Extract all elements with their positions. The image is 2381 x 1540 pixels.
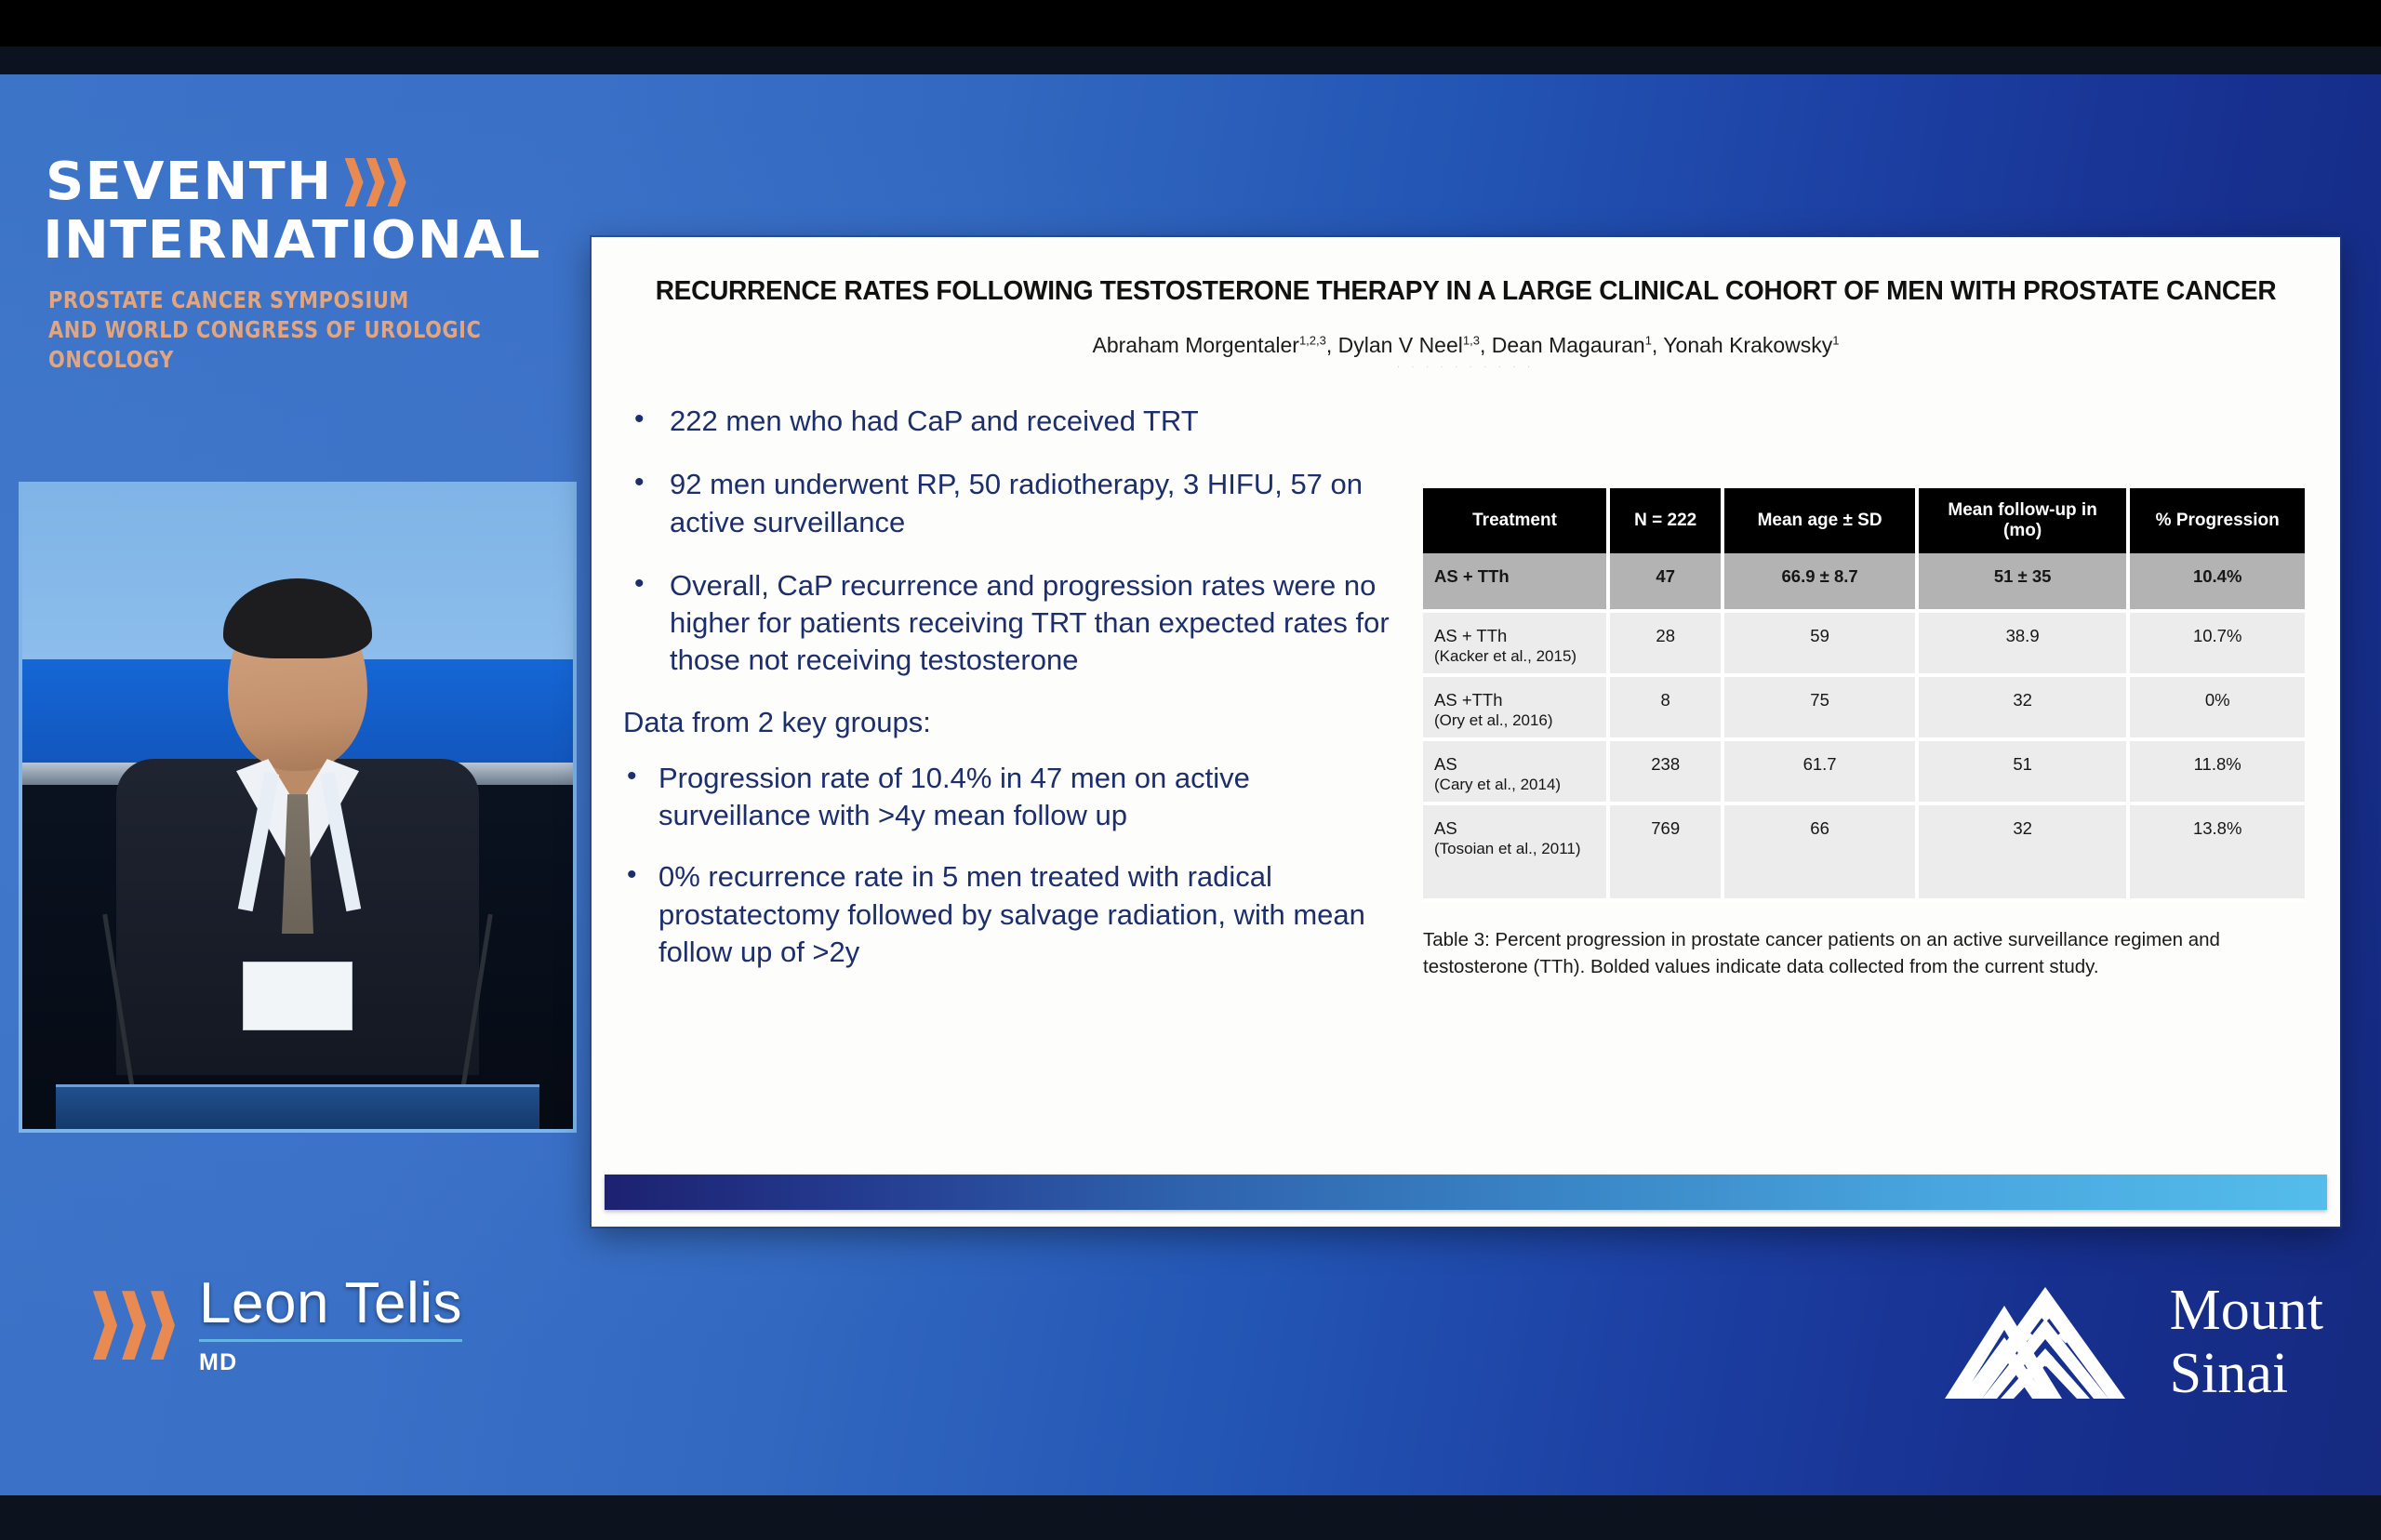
mountain-peaks-icon <box>1943 1281 2148 1402</box>
video-frame: SEVENTH INTERNATIONAL PROSTATE CANCER SY… <box>0 0 2381 1540</box>
cell-mean-age: 59 <box>1723 611 1917 675</box>
slide-bullet-list-bottom: Progression rate of 10.4% in 47 men on a… <box>621 760 1404 971</box>
table-row: AS + TTh 47 66.9 ± 8.7 51 ± 35 10.4% <box>1423 553 2305 611</box>
speaker-video-feed[interactable] <box>19 482 577 1133</box>
speaker-name-plate: Leon Telis MD <box>93 1274 462 1376</box>
author-3: Dean Magauran <box>1492 333 1645 357</box>
institution-name-line1: Mount <box>2170 1281 2323 1339</box>
speaker-name-badge <box>243 962 352 1030</box>
cell-treatment-citation: (Ory et al., 2016) <box>1434 711 1601 730</box>
cell-treatment: AS +TTh (Ory et al., 2016) <box>1423 675 1608 739</box>
list-item: 92 men underwent RP, 50 radiotherapy, 3 … <box>621 466 1404 541</box>
institution-name-line2: Sinai <box>2170 1345 2323 1402</box>
author-1: Abraham Morgentaler <box>1092 333 1298 357</box>
chevron-right-icon <box>345 158 406 206</box>
speaker-credential: MD <box>199 1349 462 1376</box>
speaker-podium <box>56 1084 540 1129</box>
letterbox-gap-top <box>0 46 2381 74</box>
table-row: AS (Tosoian et al., 2011) 769 66 32 13.8… <box>1423 803 2305 900</box>
speaker-name-underline <box>199 1339 462 1342</box>
conference-logo: SEVENTH INTERNATIONAL PROSTATE CANCER SY… <box>48 156 588 375</box>
slide-right-column: Treatment N = 222 Mean age ± SD Mean fol… <box>1414 386 2336 995</box>
conference-logo-line2: INTERNATIONAL <box>43 212 593 271</box>
cell-follow-up: 32 <box>1917 803 2129 900</box>
cell-treatment-citation: (Cary et al., 2014) <box>1434 776 1601 794</box>
list-item: Overall, CaP recurrence and progression … <box>621 567 1404 680</box>
slide-affiliation-clipped: . . . . . . . . . . <box>595 360 2336 373</box>
cell-n: 47 <box>1608 553 1723 611</box>
letterbox-bottom <box>0 1495 2381 1540</box>
table-header-row: Treatment N = 222 Mean age ± SD Mean fol… <box>1423 488 2305 553</box>
cell-follow-up: 51 <box>1917 739 2129 803</box>
list-item: Progression rate of 10.4% in 47 men on a… <box>621 760 1404 835</box>
cell-progression: 10.7% <box>2128 611 2305 675</box>
list-item: 222 men who had CaP and received TRT <box>621 403 1404 440</box>
conference-logo-line1: SEVENTH <box>46 156 333 208</box>
table-row: AS +TTh (Ory et al., 2016) 8 75 32 0% <box>1423 675 2305 739</box>
cell-treatment: AS (Cary et al., 2014) <box>1423 739 1608 803</box>
cell-treatment-label: AS + TTh <box>1434 626 1507 645</box>
cell-progression: 13.8% <box>2128 803 2305 900</box>
cell-treatment: AS + TTh (Kacker et al., 2015) <box>1423 611 1608 675</box>
slide-authors: Abraham Morgentaler1,2,3, Dylan V Neel1,… <box>595 333 2336 358</box>
author-1-sup: 1,2,3 <box>1299 333 1326 347</box>
cell-mean-age: 66 <box>1723 803 1917 900</box>
column-header-mean-age: Mean age ± SD <box>1723 488 1917 553</box>
column-header-progression: % Progression <box>2128 488 2305 553</box>
table-row: AS (Cary et al., 2014) 238 61.7 51 11.8% <box>1423 739 2305 803</box>
cell-n: 238 <box>1608 739 1723 803</box>
cell-mean-age: 75 <box>1723 675 1917 739</box>
column-header-treatment: Treatment <box>1423 488 1608 553</box>
cell-treatment-label: AS +TTh <box>1434 690 1503 710</box>
speaker-name: Leon Telis <box>199 1274 462 1334</box>
cell-follow-up: 32 <box>1917 675 2129 739</box>
cell-progression: 11.8% <box>2128 739 2305 803</box>
slide-left-column: 222 men who had CaP and received TRT 92 … <box>595 386 1414 995</box>
letterbox-top <box>0 0 2381 46</box>
author-2-sup: 1,3 <box>1463 333 1480 347</box>
slide-accent-bar <box>605 1175 2327 1210</box>
cell-mean-age: 66.9 ± 8.7 <box>1723 553 1917 611</box>
list-item: 0% recurrence rate in 5 men treated with… <box>621 858 1404 971</box>
cell-treatment-citation: (Tosoian et al., 2011) <box>1434 840 1601 858</box>
cell-treatment: AS + TTh <box>1423 553 1608 611</box>
chevron-right-icon-accent <box>93 1291 175 1360</box>
presentation-slide[interactable]: RECURRENCE RATES FOLLOWING TESTOSTERONE … <box>592 237 2340 1227</box>
cell-treatment-citation: (Kacker et al., 2015) <box>1434 647 1601 666</box>
conference-subtitle-line2: AND WORLD CONGRESS OF UROLOGIC ONCOLOGY <box>48 315 550 375</box>
author-2: Dylan V Neel <box>1338 333 1463 357</box>
table-caption: Table 3: Percent progression in prostate… <box>1423 926 2305 980</box>
cell-n: 8 <box>1608 675 1723 739</box>
slide-group-label: Data from 2 key groups: <box>623 706 1404 739</box>
author-4-sup: 1 <box>1832 333 1839 347</box>
mount-sinai-logo: Mount Sinai <box>1943 1281 2323 1402</box>
author-4: Yonah Krakowsky <box>1663 333 1832 357</box>
cell-treatment-label: AS <box>1434 754 1457 774</box>
progression-data-table: Treatment N = 222 Mean age ± SD Mean fol… <box>1423 488 2305 902</box>
cell-n: 769 <box>1608 803 1723 900</box>
author-3-sup: 1 <box>1645 333 1652 347</box>
slide-bullet-list-top: 222 men who had CaP and received TRT 92 … <box>621 403 1404 680</box>
cell-mean-age: 61.7 <box>1723 739 1917 803</box>
slide-title: RECURRENCE RATES FOLLOWING TESTOSTERONE … <box>629 276 2304 307</box>
column-header-n: N = 222 <box>1608 488 1723 553</box>
cell-progression: 0% <box>2128 675 2305 739</box>
cell-follow-up: 51 ± 35 <box>1917 553 2129 611</box>
cell-treatment-label: AS <box>1434 818 1457 838</box>
cell-progression: 10.4% <box>2128 553 2305 611</box>
cell-n: 28 <box>1608 611 1723 675</box>
column-header-follow-up: Mean follow-up in(mo) <box>1917 488 2129 553</box>
cell-treatment: AS (Tosoian et al., 2011) <box>1423 803 1608 900</box>
table-row: AS + TTh (Kacker et al., 2015) 28 59 38.… <box>1423 611 2305 675</box>
conference-subtitle-line1: PROSTATE CANCER SYMPOSIUM <box>48 285 550 315</box>
cell-follow-up: 38.9 <box>1917 611 2129 675</box>
